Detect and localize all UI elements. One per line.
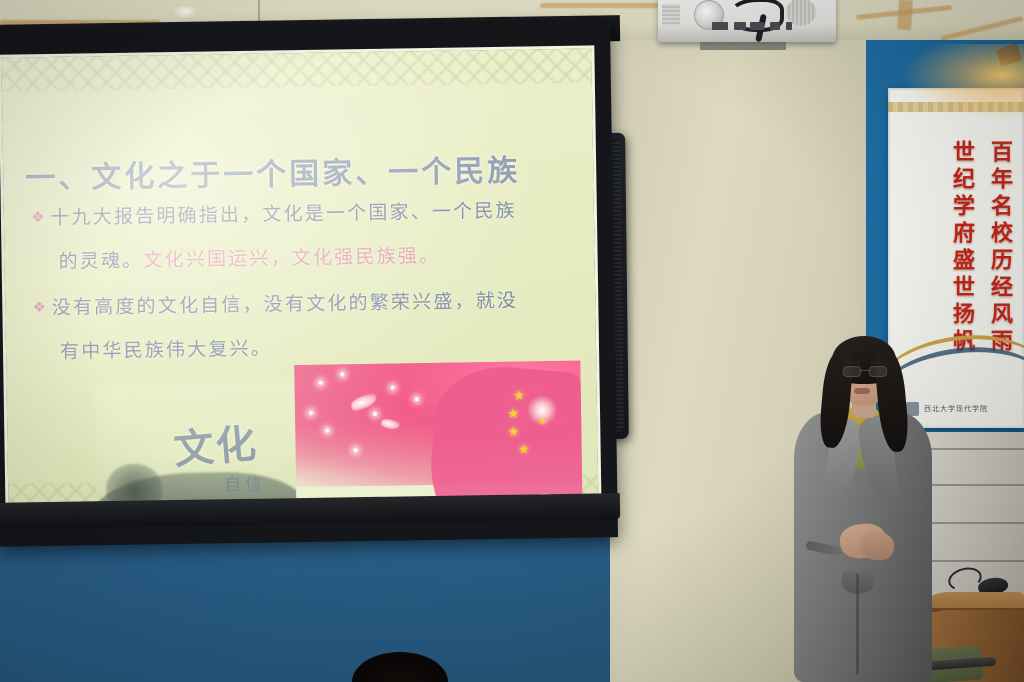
slide-title: 一、文化之于一个国家、一个民族 <box>25 146 521 198</box>
presenter <box>788 336 936 682</box>
lecture-room-photo: 一、文化之于一个国家、一个民族 ❖ 十九大报告明确指出，文化是一个国家、一个民族… <box>0 0 1024 682</box>
slide-bullet-1-line-2a: 的灵魂。 <box>58 246 143 274</box>
banner-column-left: 世纪学府盛世扬帆 <box>946 140 978 356</box>
bullet-marker-icon: ❖ <box>31 298 47 316</box>
slide-image-subtitle: 自信 <box>224 470 266 496</box>
banner-column-right: 百年名校历经风雨 <box>984 140 1016 356</box>
slide-bullet-1-line-2: 的灵魂。文化兴国运兴，文化强民族强。 <box>58 241 440 274</box>
bullet-marker-icon: ❖ <box>30 208 46 226</box>
presentation-slide: 一、文化之于一个国家、一个民族 ❖ 十九大报告明确指出，文化是一个国家、一个民族… <box>0 45 602 520</box>
slide-bullet-1-line-2b: 。 <box>419 241 441 268</box>
ceiling-lamp-icon <box>172 6 198 19</box>
slide-bullet-2-line-2: 有中华民族伟大复兴。 <box>60 334 272 364</box>
slide-border-top <box>1 48 591 91</box>
slide-bullet-1-line-1: 十九大报告明确指出，文化是一个国家、一个民族 <box>50 196 517 230</box>
slide-bullet-1: ❖ 十九大报告明确指出，文化是一个国家、一个民族 <box>30 196 517 231</box>
slide-bullet-2-line-1: 没有高度的文化自信，没有文化的繁荣兴盛，就没 <box>52 286 519 320</box>
slide-image-calligraphy: 文化 <box>171 411 260 476</box>
projection-screen-frame: 一、文化之于一个国家、一个民族 ❖ 十九大报告明确指出，文化是一个国家、一个民族… <box>0 21 618 547</box>
slide-bullet-2-line-2-text: 有中华民族伟大复兴。 <box>60 334 272 364</box>
slide-bullet-2: ❖ 没有高度的文化自信，没有文化的繁荣兴盛，就没 <box>31 286 518 321</box>
slide-bullet-1-highlight: 文化兴国运兴，文化强民族强 <box>143 241 419 272</box>
ceiling-projector <box>658 0 836 42</box>
glasses-icon <box>843 366 887 377</box>
